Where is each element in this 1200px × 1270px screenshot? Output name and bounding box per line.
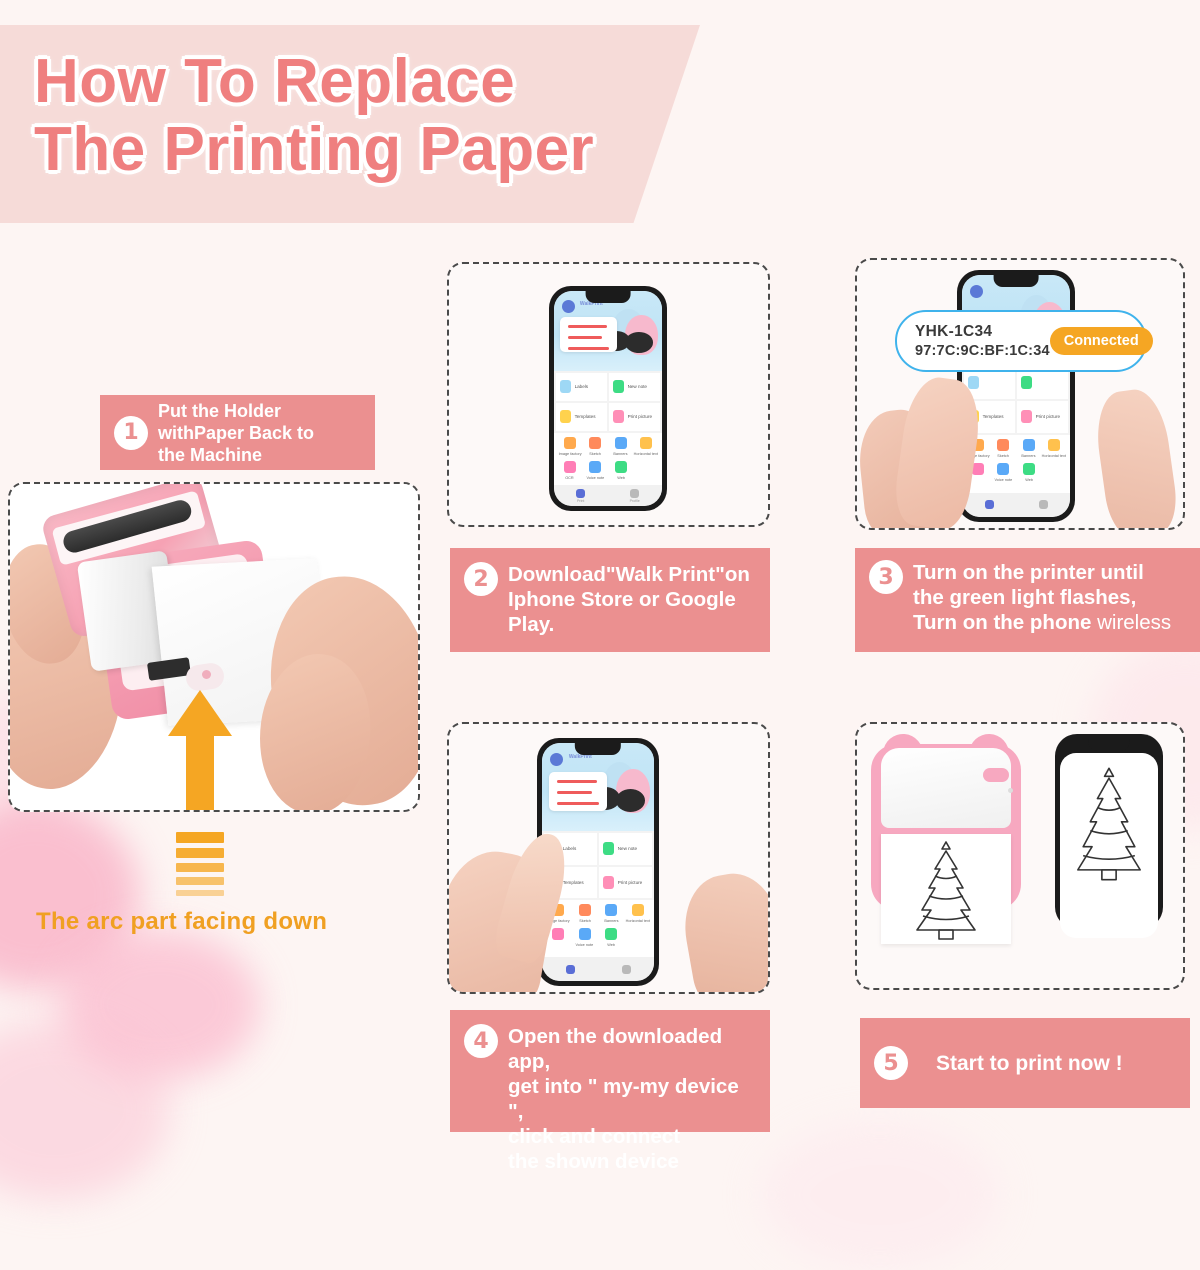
step-2-text: Download"Walk Print"on Iphone Store or G…	[508, 562, 758, 637]
grid-label: Sketch	[997, 453, 1009, 458]
sketch-icon	[589, 437, 601, 449]
step4-photo-frame: WalkPrint Labels New note Templat	[447, 722, 770, 994]
app-logo-icon	[550, 753, 563, 766]
grid-label: Sketch	[579, 918, 591, 923]
christmas-tree-icon	[1060, 753, 1158, 903]
grid-label: Image factory	[558, 451, 581, 456]
labels-icon	[560, 380, 571, 393]
grid-item-empty	[634, 461, 660, 480]
web-icon	[615, 461, 627, 473]
app-promo-card[interactable]	[549, 772, 607, 811]
step-4-badge: 4	[464, 1024, 498, 1058]
step-1-line-1: Put the Holder	[158, 400, 314, 422]
app-icon-row: Image factory Sketch Banners Horizontal …	[965, 439, 1067, 463]
step-5-text: Start to print now !	[918, 1051, 1123, 1076]
print-preview-screen	[1060, 753, 1158, 938]
grid-item-voice-note[interactable]: Voice note	[991, 463, 1017, 482]
print-picture-icon	[603, 876, 614, 889]
print-nav-icon	[576, 489, 585, 498]
printer-front-panel	[881, 748, 1011, 828]
grid-label: Horizontal text	[1042, 453, 1066, 458]
step-3-wireless-word: wireless	[1097, 611, 1171, 634]
sketch-icon	[997, 439, 1009, 451]
up-arrow-icon	[168, 690, 232, 810]
tile-label: New note	[618, 846, 637, 851]
tile-label: Templates	[563, 880, 584, 885]
grid-label: Sketch	[589, 451, 601, 456]
arrow-shaft	[186, 732, 214, 810]
grid-item-empty	[625, 928, 652, 947]
step-3-line-2: the green light flashes,	[913, 585, 1171, 610]
print-picture-icon	[1021, 410, 1032, 423]
nav-item-print[interactable]	[566, 965, 575, 974]
step-5-badge: 5	[874, 1046, 908, 1080]
ocr-icon	[564, 461, 576, 473]
christmas-tree-icon	[891, 836, 1001, 944]
tile-label: Labels	[575, 384, 589, 389]
app-icon-grid: Image factory Sketch Banners Horizontal …	[554, 433, 662, 485]
app-logo-text: WalkPrint	[580, 301, 603, 307]
image-factory-icon	[564, 437, 576, 449]
banners-icon	[605, 904, 617, 916]
app-logo-text: WalkPrint	[569, 754, 592, 760]
grid-label: Voice note	[994, 477, 1012, 482]
new-note-icon	[1021, 376, 1032, 389]
tile-print-picture[interactable]: Print picture	[599, 867, 652, 899]
device-mac-address: 97:7C:9C:BF:1C:34	[915, 343, 1050, 359]
new-note-icon	[603, 842, 614, 855]
device-name: YHK-1C34	[915, 323, 1050, 341]
app-icon-row: Voice note Web	[545, 928, 651, 952]
step-1-line-2: withPaper Back to	[158, 422, 314, 444]
nav-item-profile[interactable]: Profile	[630, 489, 640, 503]
banners-icon	[1023, 439, 1035, 451]
profile-nav-icon	[622, 965, 631, 974]
nav-label: Print	[577, 499, 584, 503]
step-3-line-3: Turn on the phone wireless	[913, 610, 1171, 635]
app-icon-grid: Image factory Sketch Banners Horizontal …	[962, 435, 1070, 493]
labels-icon	[968, 376, 979, 389]
step-3-badge: 3	[869, 560, 903, 594]
tile-label: Print picture	[628, 414, 653, 419]
grid-item-sketch[interactable]: Sketch	[572, 904, 599, 923]
step3-photo-frame: Templates Print picture Image factory Sk…	[855, 258, 1185, 530]
grid-label: Web	[617, 475, 625, 480]
step-4-line-4: the shown device	[508, 1149, 758, 1174]
tile-new-note[interactable]: New note	[609, 373, 660, 401]
phone-body	[1055, 734, 1163, 929]
step-2-line-2: Iphone Store or Google Play.	[508, 587, 758, 637]
app-feature-tiles: Templates Print picture	[962, 365, 1070, 435]
templates-icon	[560, 410, 571, 423]
grid-label: Voice note	[576, 942, 594, 947]
decorative-blob	[0, 1020, 170, 1200]
step2-photo-frame: WalkPrint Labels New note Templat	[447, 262, 770, 527]
nav-item-print[interactable]	[985, 500, 994, 509]
printed-paper	[881, 834, 1011, 944]
nav-item-profile[interactable]	[1039, 500, 1048, 509]
arc-part-note: The arc part facing down	[36, 908, 456, 936]
grid-label: Horizontal text	[626, 918, 650, 923]
voice-note-icon	[579, 928, 591, 940]
page-title-line1: How To Replace	[34, 48, 734, 116]
connection-status-badge: Connected	[1050, 327, 1153, 355]
step-4-line-3: click and connect	[508, 1124, 758, 1149]
step-1-line-3: the Machine	[158, 444, 314, 466]
grid-label: Banners	[604, 918, 618, 923]
step-1-badge: 1	[114, 416, 148, 450]
nav-label: Profile	[630, 499, 640, 503]
app-feature-tiles: Labels New note Templates Print picture	[554, 371, 662, 433]
thumb-illustration	[1091, 386, 1180, 530]
grid-item-banners[interactable]: Banners	[598, 904, 625, 923]
grid-item-horizontal-text[interactable]: Horizontal text	[625, 904, 652, 923]
device-info: YHK-1C34 97:7C:9C:BF:1C:34	[915, 323, 1050, 359]
tile-label: Templates	[575, 414, 596, 419]
nav-item-print[interactable]: Print	[576, 489, 585, 503]
app-header: WalkPrint	[542, 743, 654, 831]
grid-item-horizontal-text[interactable]: Horizontal text	[633, 437, 659, 456]
grid-item-web[interactable]: Web	[1016, 463, 1042, 482]
tile-label: Print picture	[1036, 414, 1061, 419]
cat-ear-printer	[871, 738, 1021, 910]
grid-item-empty	[1042, 463, 1068, 482]
print-picture-icon	[613, 410, 624, 423]
app-icon-row: OCR Voice note Web	[557, 461, 659, 485]
printer-status-dot	[1008, 788, 1013, 793]
horizontal-text-icon	[640, 437, 652, 449]
grid-item-image-factory[interactable]: Image factory	[557, 437, 582, 456]
step-1-caption: 1 Put the Holder withPaper Back to the M…	[100, 395, 375, 470]
tile-label: Print picture	[618, 880, 643, 885]
step-4-line-1: Open the downloaded app,	[508, 1024, 758, 1074]
step-2-line-1: Download"Walk Print"on	[508, 562, 758, 587]
app-bottom-nav: Print Profile	[554, 485, 662, 506]
page-title-line2: The Printing Paper	[34, 116, 734, 184]
step-2-badge: 2	[464, 562, 498, 596]
grid-label: Banners	[614, 451, 628, 456]
grid-item-voice-note[interactable]: Voice note	[572, 928, 599, 947]
app-icon-row: Voice note Web	[965, 463, 1067, 487]
voice-note-icon	[589, 461, 601, 473]
grid-item-web[interactable]: Web	[608, 461, 634, 480]
app-screen: WalkPrint Labels New note Templat	[554, 291, 662, 506]
app-bottom-nav	[542, 957, 654, 981]
app-icon-row: Image factory Sketch Banners Horizontal …	[557, 437, 659, 461]
grid-label: Horizontal text	[634, 451, 658, 456]
step5-photo-frame	[855, 722, 1185, 990]
grid-label: Web	[1025, 477, 1033, 482]
step-1-text: Put the Holder withPaper Back to the Mac…	[158, 400, 314, 466]
tile-labels[interactable]: Labels	[556, 373, 607, 401]
grid-item-voice-note[interactable]: Voice note	[583, 461, 609, 480]
grid-item-sketch[interactable]: Sketch	[990, 439, 1015, 458]
profile-nav-icon	[1039, 500, 1048, 509]
tile-print-picture[interactable]: Print picture	[1017, 401, 1068, 433]
phone-mockup	[1055, 734, 1163, 929]
horizontal-text-icon	[1048, 439, 1060, 451]
arrow-trail-dashes	[176, 832, 224, 901]
grid-item-banners[interactable]: Banners	[608, 437, 633, 456]
grid-item-web[interactable]: Web	[598, 928, 625, 947]
phone-mockup: Templates Print picture Image factory Sk…	[957, 270, 1075, 522]
decorative-blob	[760, 1120, 1000, 1270]
tile-label: Labels	[563, 846, 577, 851]
step-4-caption: 4 Open the downloaded app, get into " my…	[450, 1010, 770, 1132]
ocr-icon	[552, 928, 564, 940]
app-icon-row: Image factory Sketch Banners Horizontal …	[545, 904, 651, 928]
grid-label: Voice note	[586, 475, 604, 480]
web-icon	[605, 928, 617, 940]
tile-label: Templates	[983, 414, 1004, 419]
nav-item-profile[interactable]	[622, 965, 631, 974]
grid-label: OCR	[566, 475, 574, 480]
device-connection-popup[interactable]: YHK-1C34 97:7C:9C:BF:1C:34 Connected	[895, 310, 1147, 372]
hand-illustration	[676, 867, 770, 994]
app-promo-card[interactable]	[560, 317, 616, 352]
app-logo-icon	[562, 300, 575, 313]
tile-label: New note	[628, 384, 647, 389]
banners-icon	[615, 437, 627, 449]
grid-item-ocr[interactable]: OCR	[557, 461, 583, 480]
grid-label: Banners	[1022, 453, 1036, 458]
step-3-text: Turn on the printer until the green ligh…	[913, 560, 1171, 635]
app-icon-grid: Image factory Sketch Banners Horizontal …	[542, 900, 654, 957]
grid-item-horizontal-text[interactable]: Horizontal text	[1041, 439, 1067, 458]
grid-label: Web	[607, 942, 615, 947]
tile-print-picture[interactable]: Print picture	[609, 403, 660, 431]
printer-indicator-light	[202, 670, 211, 679]
step-4-line-2: get into " my-my device ",	[508, 1074, 758, 1124]
app-header: WalkPrint	[554, 291, 662, 371]
print-nav-icon	[566, 965, 575, 974]
tile-templates[interactable]: Templates	[556, 403, 607, 431]
web-icon	[1023, 463, 1035, 475]
grid-item-sketch[interactable]: Sketch	[582, 437, 607, 456]
new-note-icon	[613, 380, 624, 393]
grid-item-banners[interactable]: Banners	[1016, 439, 1041, 458]
page-title: How To Replace The Printing Paper	[34, 48, 734, 184]
arrow-head	[168, 690, 232, 736]
sketch-icon	[579, 904, 591, 916]
decorative-blob	[0, 800, 140, 990]
phone-mockup: WalkPrint Labels New note Templat	[549, 286, 667, 511]
app-bottom-nav	[962, 493, 1070, 517]
decorative-blob	[60, 930, 260, 1080]
step-3-line-3-bold: Turn on the phone	[913, 611, 1097, 634]
horizontal-text-icon	[632, 904, 644, 916]
print-nav-icon	[985, 500, 994, 509]
profile-nav-icon	[630, 489, 639, 498]
printer-indicator-light	[983, 768, 1009, 782]
step-3-caption: 3 Turn on the printer until the green li…	[855, 548, 1200, 652]
app-logo-icon	[970, 285, 983, 298]
printer-lens	[616, 789, 645, 812]
step-3-line-1: Turn on the printer until	[913, 560, 1171, 585]
tile-new-note[interactable]: New note	[599, 833, 652, 865]
step-5-caption: 5 Start to print now !	[860, 1018, 1190, 1108]
voice-note-icon	[997, 463, 1009, 475]
step-4-text: Open the downloaded app, get into " my-m…	[508, 1024, 758, 1174]
step-2-caption: 2 Download"Walk Print"on Iphone Store or…	[450, 548, 770, 652]
